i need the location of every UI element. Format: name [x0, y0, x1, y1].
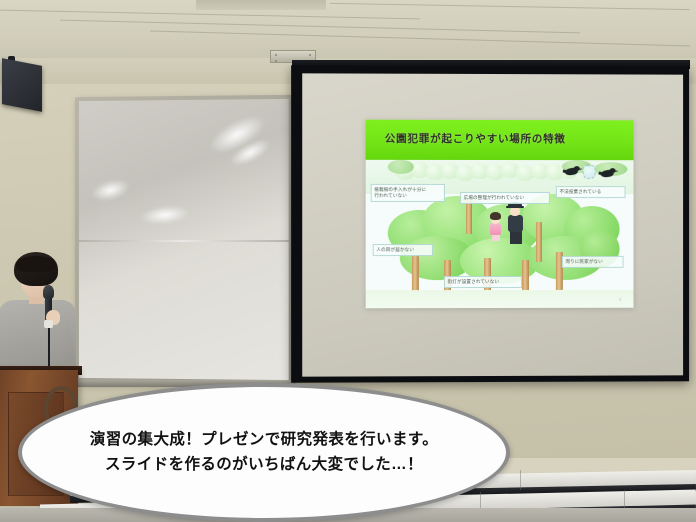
callout-illegal-dumping: 不法投棄されている	[556, 186, 626, 198]
whiteboard-glare	[139, 203, 190, 226]
slide-page-number: 5	[619, 297, 621, 302]
callout-plaza-maintenance: 広場の整理が行われていない	[460, 192, 550, 204]
illustration-adult	[506, 202, 526, 244]
whiteboard-surface	[79, 99, 289, 380]
trash-bag	[583, 165, 596, 179]
tree-trunk	[536, 222, 542, 262]
microphone-grip	[44, 320, 53, 328]
whiteboard-glare	[89, 176, 132, 205]
ceiling-seam	[60, 20, 580, 34]
crow-icon	[599, 168, 616, 179]
desk-seam	[520, 470, 521, 490]
slide-far-tree	[388, 160, 414, 174]
slide-body: 植栽樹の手入れが十分に 行われていない 広場の整理が行われていない 不法投棄され…	[366, 160, 634, 308]
ceiling-light-panel	[196, 0, 326, 10]
tree-trunk	[412, 256, 419, 294]
tree-trunk	[466, 200, 472, 234]
microphone-icon	[43, 285, 54, 299]
projection-surface: 公園犯罪が起こりやすい場所の特徴	[302, 73, 683, 376]
ceiling	[0, 0, 696, 62]
lecture-hall-photo: 公園犯罪が起こりやすい場所の特徴	[0, 0, 696, 522]
whiteboard-panel-divider	[79, 239, 289, 241]
illustration-child	[488, 212, 504, 241]
callout-no-streetlights: 街灯が設置されていない	[444, 276, 522, 288]
tree-trunk	[522, 260, 529, 294]
slide-hedge-row	[396, 162, 576, 178]
crow-icon	[563, 166, 580, 177]
slide-title: 公園犯罪が起こりやすい場所の特徴	[385, 131, 566, 146]
whiteboard	[75, 95, 293, 385]
caption-text: 演習の集大成！プレゼンで研究発表を行います。 スライドを作るのがいちばん大変でし…	[56, 428, 472, 478]
callout-no-houses: 周りに民家がない	[562, 256, 624, 268]
presenter-hair-fringe	[16, 256, 56, 272]
projected-slide: 公園犯罪が起こりやすい場所の特徴	[366, 120, 634, 309]
ceiling-seam	[150, 30, 690, 46]
wall-speaker	[2, 58, 42, 112]
callout-planting-upkeep: 植栽樹の手入れが十分に 行われていない	[371, 184, 445, 202]
bracket-label	[271, 51, 315, 53]
callout-no-eyes: 人の目が届かない	[373, 244, 433, 256]
caption-bubble: 演習の集大成！プレゼンで研究発表を行います。 スライドを作るのがいちばん大変でし…	[18, 383, 510, 522]
ceiling-seam	[330, 3, 690, 10]
slide-ground	[366, 290, 634, 308]
ceiling-seam	[0, 10, 420, 20]
projection-screen: 公園犯罪が起こりやすい場所の特徴	[291, 65, 689, 382]
